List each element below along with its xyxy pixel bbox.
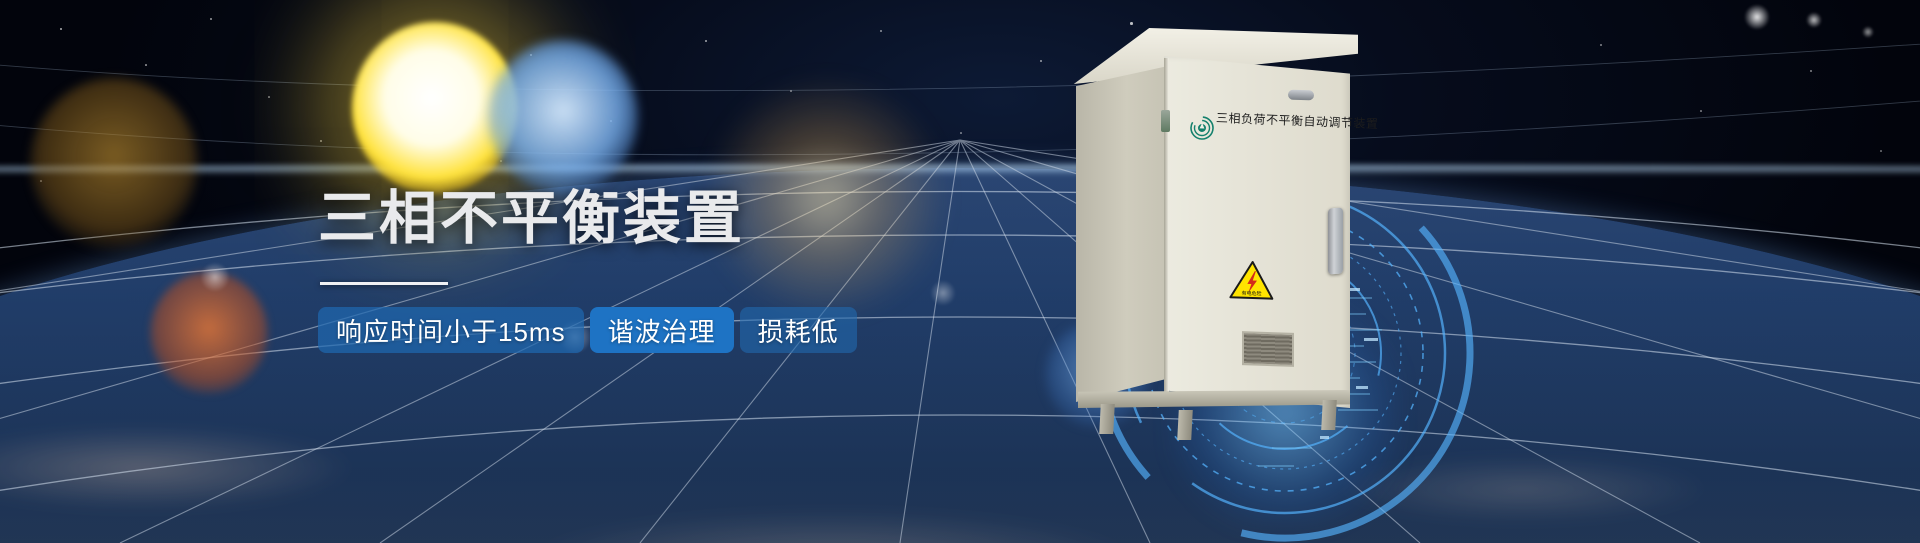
feature-pill-harmonic[interactable]: 谐波治理	[590, 307, 734, 353]
sparkle-light	[200, 262, 230, 292]
door-latch	[1288, 90, 1314, 101]
hero-banner: 三相负荷不平衡自动调节装置 有电危险 三相不平衡装置 响应时间小于15ms 谐波…	[0, 0, 1920, 543]
page-title: 三相不平衡装置	[318, 190, 958, 248]
cabinet-base	[1078, 390, 1350, 408]
feature-pill-low-loss[interactable]: 损耗低	[740, 307, 857, 353]
cabinet-foot	[1321, 400, 1337, 430]
meridian-mesh	[0, 0, 1920, 543]
equipment-cabinet: 三相负荷不平衡自动调节装置 有电危险	[1060, 28, 1360, 428]
cabinet-foot	[1177, 410, 1193, 440]
sparkle-light	[1862, 26, 1874, 38]
louver-vent	[1242, 331, 1294, 367]
blue-orb	[488, 40, 638, 194]
sparkle-light	[1744, 4, 1770, 30]
amber-orb	[30, 78, 198, 250]
sparkle-light	[1806, 12, 1822, 28]
title-divider	[320, 282, 448, 285]
svg-text:有电危险: 有电危险	[1241, 290, 1261, 298]
cabinet-foot	[1099, 404, 1115, 434]
cabinet-side-panel	[1076, 66, 1168, 402]
electrical-hazard-icon: 有电危险	[1229, 259, 1274, 301]
door-hinge	[1161, 110, 1170, 132]
feature-pill-list: 响应时间小于15ms 谐波治理 损耗低	[318, 307, 958, 353]
banner-copy: 三相不平衡装置 响应时间小于15ms 谐波治理 损耗低	[318, 190, 958, 353]
door-handle	[1328, 207, 1343, 274]
feature-pill-response-time[interactable]: 响应时间小于15ms	[318, 307, 584, 353]
manufacturer-logo-icon	[1190, 116, 1215, 141]
